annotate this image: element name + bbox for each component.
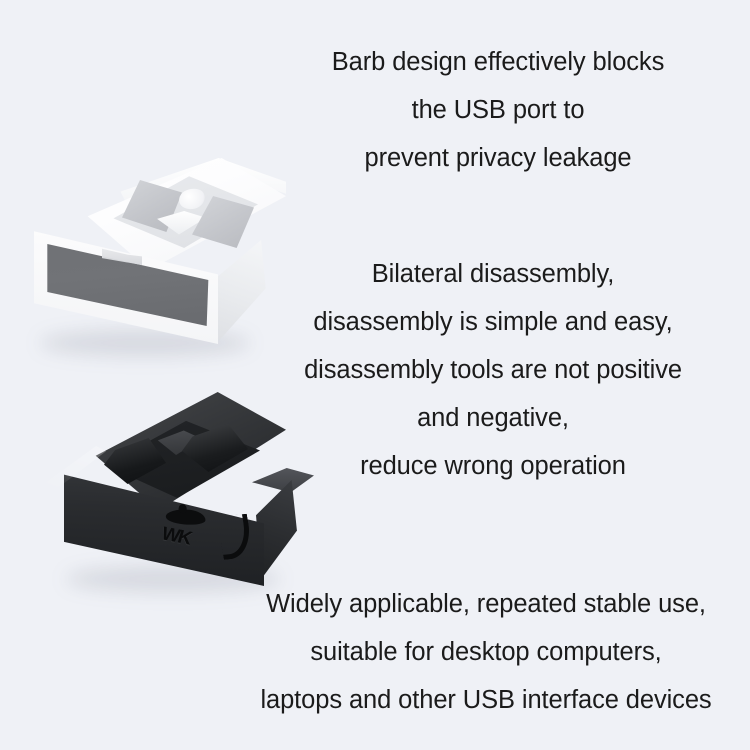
feature-line: disassembly tools are not positive [258,346,728,394]
feature-line: reduce wrong operation [258,442,728,490]
feature-text-bilateral-disassembly: Bilateral disassembly, disassembly is si… [258,250,728,490]
feature-text-barb-design: Barb design effectively blocks the USB p… [268,38,728,182]
feature-line: Bilateral disassembly, [258,250,728,298]
feature-line: disassembly is simple and easy, [258,298,728,346]
feature-line: laptops and other USB interface devices [222,676,750,724]
product-feature-graphic: WK Barb design effectively blocks the US… [0,0,750,750]
black-box-side-face [256,480,322,590]
usb-port-blocker-white-image [16,158,286,358]
feature-line: Widely applicable, repeated stable use, [222,580,750,628]
feature-text-compatibility: Widely applicable, repeated stable use, … [222,580,750,724]
feature-line: prevent privacy leakage [268,134,728,182]
feature-line: the USB port to [268,86,728,134]
feature-line: Barb design effectively blocks [268,38,728,86]
feature-line: and negative, [258,394,728,442]
feature-line: suitable for desktop computers, [222,628,750,676]
